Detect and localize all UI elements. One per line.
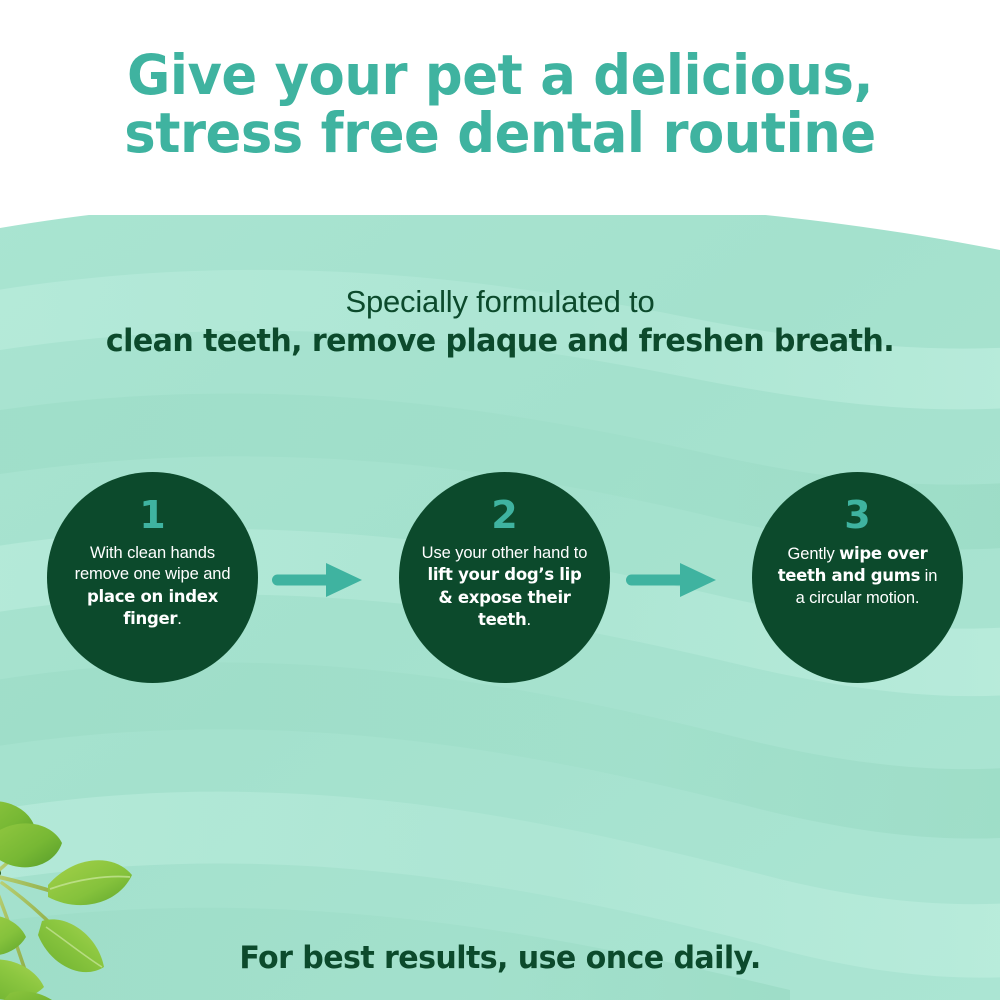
steps-row: 1 With clean hands remove one wipe and p… bbox=[0, 472, 1000, 684]
arrow-step-2-to-3 bbox=[626, 560, 720, 600]
step-circle-1: 1 With clean hands remove one wipe and p… bbox=[47, 472, 258, 683]
infographic-poster: Give your pet a delicious, stress free d… bbox=[0, 0, 1000, 1000]
subtitle-line-2: clean teeth, remove plaque and freshen b… bbox=[15, 323, 985, 361]
step-text-2: Use your other hand to lift your dog’s l… bbox=[419, 543, 591, 632]
footer-text: For best results, use once daily. bbox=[15, 940, 985, 976]
page-title: Give your pet a delicious, stress free d… bbox=[39, 46, 961, 163]
subtitle-line-1: Specially formulated to bbox=[0, 284, 1000, 321]
step-circle-2: 2 Use your other hand to lift your dog’s… bbox=[399, 472, 610, 683]
step-number-3: 3 bbox=[844, 496, 870, 534]
header-zone: Give your pet a delicious, stress free d… bbox=[0, 0, 1000, 215]
subtitle-block: Specially formulated to clean teeth, rem… bbox=[0, 284, 1000, 360]
step-circle-3: 3 Gently wipe over teeth and gums in a c… bbox=[752, 472, 963, 683]
footer-block: For best results, use once daily. bbox=[0, 940, 1000, 976]
step-number-2: 2 bbox=[491, 496, 517, 534]
step-text-3: Gently wipe over teeth and gums in a cir… bbox=[772, 543, 944, 609]
step-number-1: 1 bbox=[139, 496, 165, 534]
arrow-step-1-to-2 bbox=[272, 560, 366, 600]
step-text-1: With clean hands remove one wipe and pla… bbox=[67, 543, 239, 631]
